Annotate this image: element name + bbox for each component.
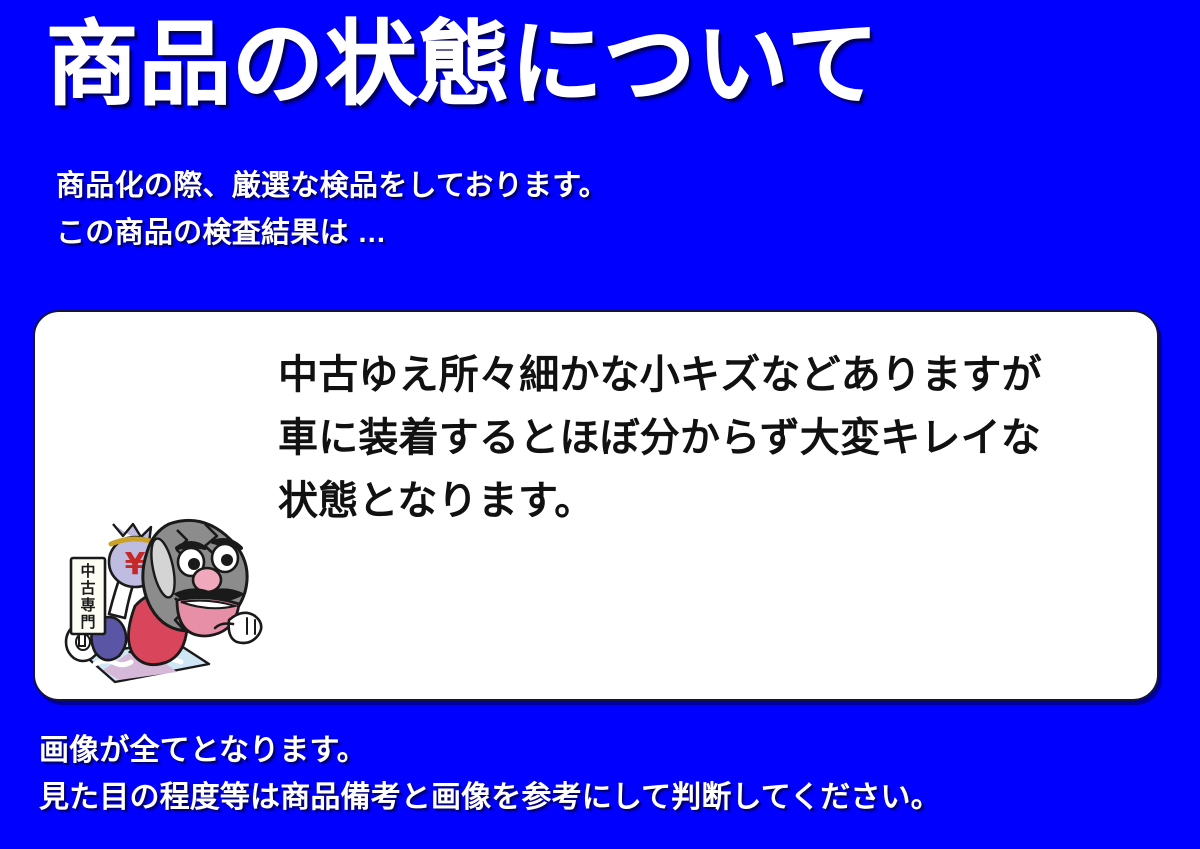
used-specialist-sign-icon: 中 古 専 門	[71, 558, 105, 646]
condition-line-3: 状態となります。	[278, 470, 1042, 533]
condition-line-1: 中古ゆえ所々細かな小キズなどありますが	[278, 344, 1042, 407]
footer-line-1: 画像が全てとなります。	[39, 728, 941, 775]
footer-line-2: 見た目の程度等は商品備考と画像を参考にして判断してください。	[39, 775, 941, 822]
condition-text-block: 中古ゆえ所々細かな小キズなどありますが 車に装着するとほぼ分からず大変キレイな …	[278, 344, 1042, 534]
svg-text:専: 専	[80, 596, 95, 614]
page-title: 商品の状態について	[46, 16, 880, 115]
tire-character-mascot-icon: 中 古 専 門 ¥	[57, 502, 272, 692]
intro-block: 商品化の際、厳選な検品をしております。 この商品の検査結果は …	[56, 163, 608, 257]
svg-text:古: 古	[80, 579, 95, 597]
condition-line-2: 車に装着するとほぼ分からず大変キレイな	[278, 407, 1042, 470]
notice-page: 商品の状態について 商品化の際、厳選な検品をしております。 この商品の検査結果は…	[0, 0, 1200, 849]
svg-text:門: 門	[80, 613, 95, 631]
intro-line-1: 商品化の際、厳選な検品をしております。	[56, 163, 608, 210]
svg-text:中: 中	[80, 562, 95, 580]
intro-line-2: この商品の検査結果は …	[56, 210, 608, 257]
condition-card: 中古ゆえ所々細かな小キズなどありますが 車に装着するとほぼ分からず大変キレイな …	[33, 310, 1159, 701]
footer-block: 画像が全てとなります。 見た目の程度等は商品備考と画像を参考にして判断してくださ…	[39, 728, 941, 821]
